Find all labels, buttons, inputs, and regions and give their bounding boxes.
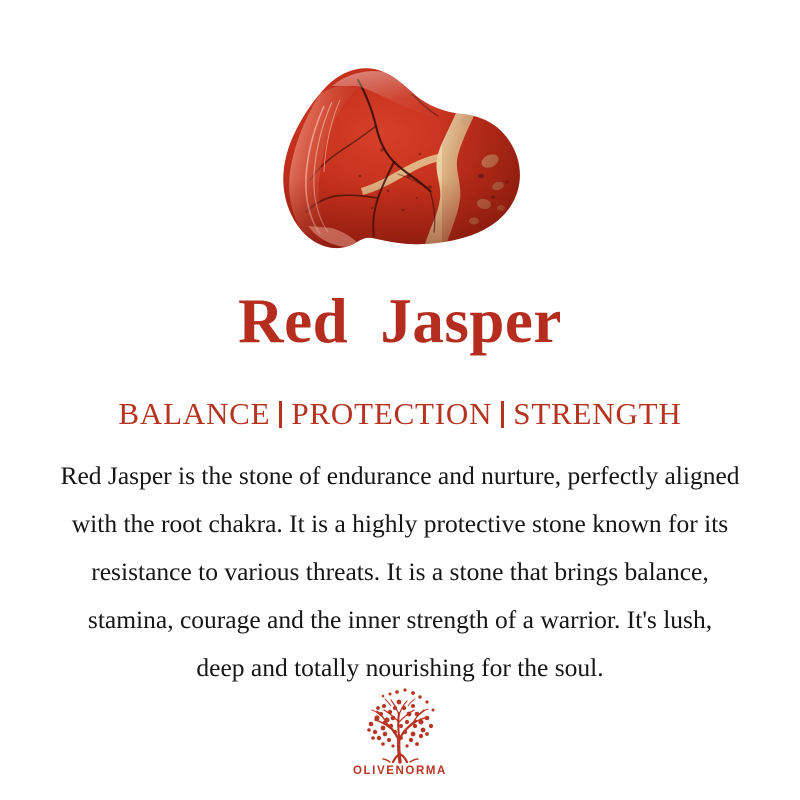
red-jasper-tumbled-stone	[262, 58, 548, 258]
brand-logo: OLIVENORMA	[0, 684, 800, 777]
keyword-balance: BALANCE	[118, 396, 270, 431]
description-line: stamina, courage and the inner strength …	[14, 596, 786, 644]
tree-logo-icon	[357, 684, 443, 764]
keyword-strength: STRENGTH	[513, 396, 681, 431]
brand-name: OLIVENORMA	[0, 765, 800, 777]
stone-figure	[0, 0, 800, 268]
keyword-protection: PROTECTION	[291, 396, 492, 431]
description-line: with the root chakra. It is a highly pro…	[14, 500, 786, 548]
keyword-separator-icon	[279, 401, 282, 428]
keyword-separator-icon	[501, 401, 504, 428]
description-line: resistance to various threats. It is a s…	[14, 548, 786, 596]
keyword-subtitle: BALANCEPROTECTIONSTRENGTH	[0, 397, 800, 431]
page-title: Red Jasper	[0, 288, 800, 354]
description-line: Red Jasper is the stone of endurance and…	[14, 452, 786, 500]
red-jasper-info-card: Red Jasper BALANCEPROTECTIONSTRENGTH Red…	[0, 0, 800, 800]
description-paragraph: Red Jasper is the stone of endurance and…	[14, 452, 786, 692]
